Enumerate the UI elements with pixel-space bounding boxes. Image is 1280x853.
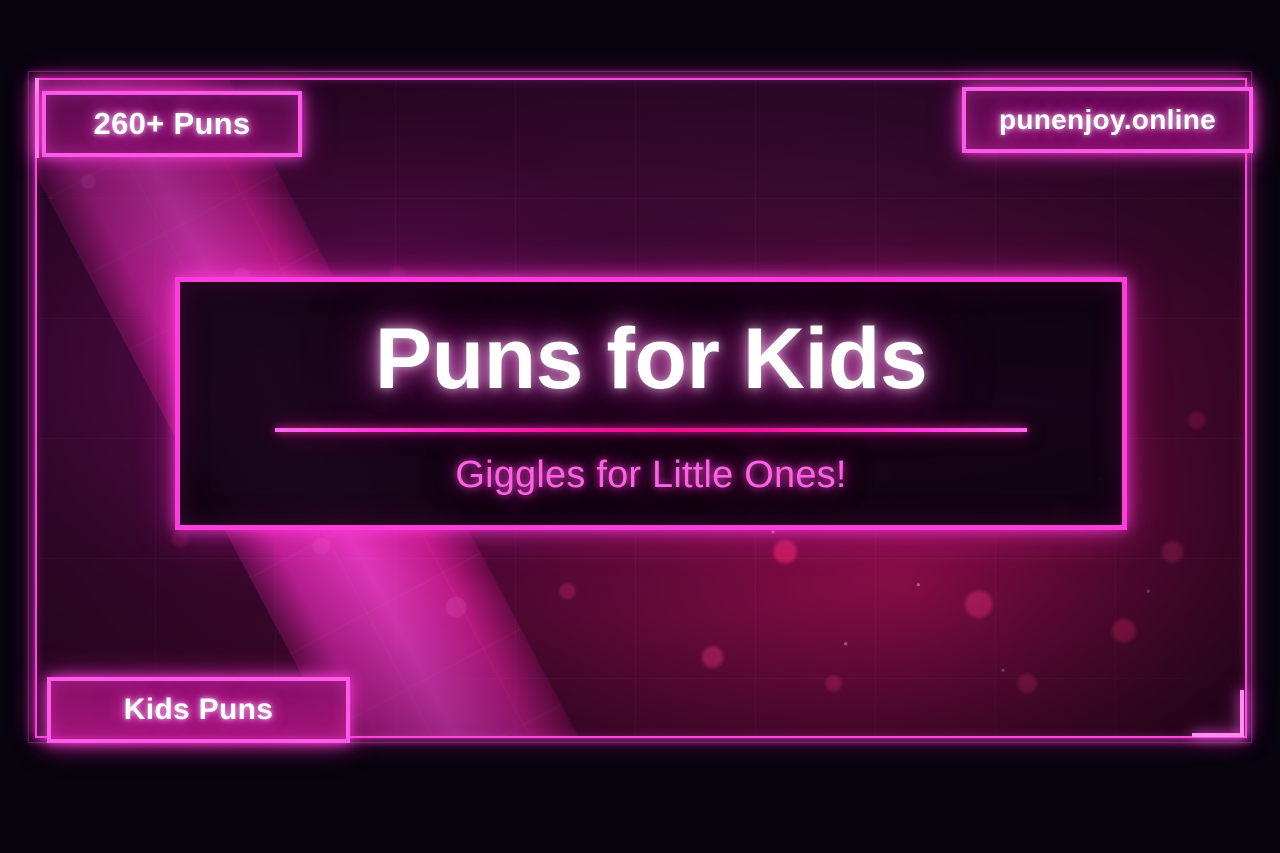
title-panel: Puns for Kids Giggles for Little Ones!: [175, 277, 1127, 530]
frame-corner-accent-bottom-right-horizontal: [1192, 733, 1244, 737]
title-divider: [275, 428, 1027, 432]
badge-category: Kids Puns: [47, 677, 350, 743]
neon-banner: 260+ Puns punenjoy.online Kids Puns Puns…: [0, 0, 1280, 853]
page-title: Puns for Kids: [375, 316, 928, 402]
page-subtitle: Giggles for Little Ones!: [455, 454, 846, 497]
frame-corner-accent-bottom-right-vertical: [1240, 690, 1244, 737]
badge-pun-count: 260+ Puns: [42, 91, 302, 157]
badge-pun-count-label: 260+ Puns: [94, 106, 251, 142]
frame-corner-accent-top-left-vertical: [35, 78, 39, 158]
badge-website-label: punenjoy.online: [999, 104, 1216, 136]
badge-website[interactable]: punenjoy.online: [962, 87, 1253, 153]
badge-category-label: Kids Puns: [124, 693, 273, 727]
